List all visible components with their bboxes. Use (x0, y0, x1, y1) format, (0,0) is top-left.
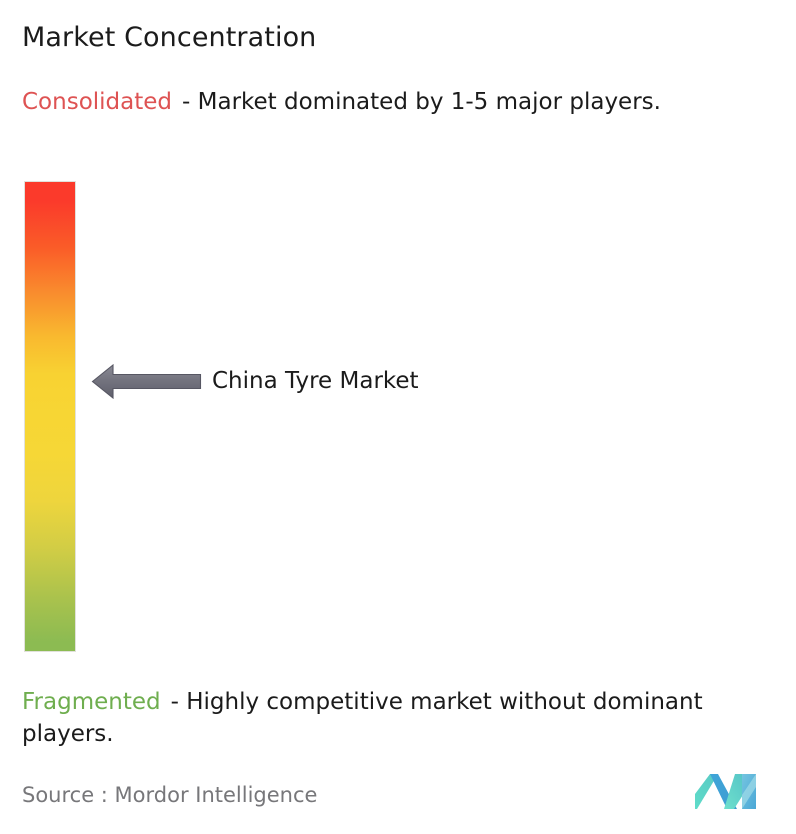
legend-fragmented-separator: - (171, 689, 179, 715)
page-title: Market Concentration (22, 21, 316, 55)
concentration-gradient-bar (25, 182, 75, 651)
arrow-left-icon (91, 361, 202, 401)
legend-consolidated: Consolidated- Market dominated by 1-5 ma… (22, 86, 767, 118)
legend-consolidated-keyword: Consolidated (22, 89, 172, 115)
market-marker-label: China Tyre Market (212, 367, 419, 395)
source-attribution: Source : Mordor Intelligence (22, 782, 317, 808)
legend-consolidated-description: Market dominated by 1-5 major players. (198, 89, 661, 115)
legend-fragmented: Fragmented- Highly competitive market wi… (22, 686, 784, 750)
market-marker-callout: China Tyre Market (91, 361, 419, 401)
mordor-intelligence-logo-icon (694, 773, 766, 811)
legend-consolidated-separator: - (182, 89, 190, 115)
market-concentration-chart: Market Concentration Consolidated- Marke… (0, 0, 796, 834)
legend-fragmented-keyword: Fragmented (22, 689, 161, 715)
